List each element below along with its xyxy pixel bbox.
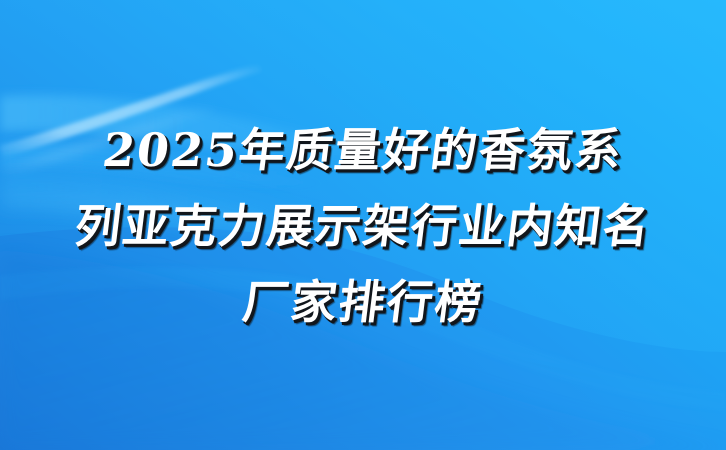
headline-line-1: 2025年质量好的香氛系 [0, 112, 726, 188]
headline-line-2: 列亚克力展示架行业内知名 [0, 188, 726, 264]
headline: 2025年质量好的香氛系 列亚克力展示架行业内知名 厂家排行榜 [0, 112, 726, 340]
headline-line-3: 厂家排行榜 [0, 264, 726, 340]
promo-banner: 2025年质量好的香氛系 列亚克力展示架行业内知名 厂家排行榜 [0, 0, 726, 450]
